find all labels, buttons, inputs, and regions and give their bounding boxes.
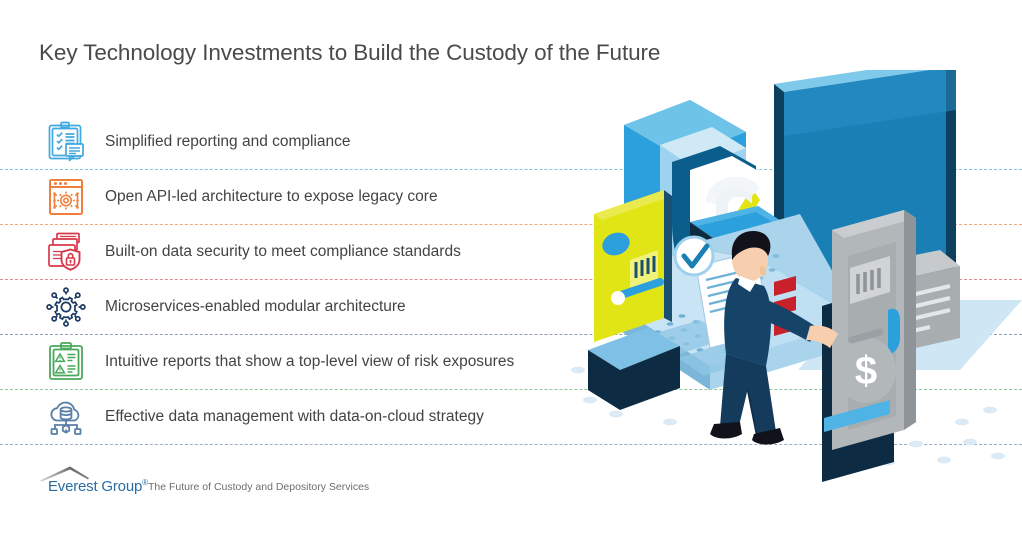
logo-wrap: Everest Group® The Future of Custody and…	[39, 466, 369, 494]
isometric-custody-security-illustration: $	[560, 70, 1022, 490]
page-title: Key Technology Investments to Build the …	[39, 40, 660, 66]
feature-label: Simplified reporting and compliance	[105, 133, 351, 151]
clipboard-checklist-icon	[41, 117, 91, 167]
everest-peak-logo-icon: Everest Group®	[39, 466, 142, 494]
api-browser-gear-icon	[41, 172, 91, 222]
svg-text:$: $	[855, 349, 877, 393]
folder-shield-lock-icon	[41, 227, 91, 277]
id-card	[588, 190, 680, 410]
microservices-gear-nodes-icon	[41, 282, 91, 332]
vault-safe: $	[822, 202, 916, 482]
infographic-page: Key Technology Investments to Build the …	[0, 0, 1022, 535]
report-warning-clipboard-icon	[41, 337, 91, 387]
feature-label: Effective data management with data-on-c…	[105, 408, 484, 426]
footer-tagline: The Future of Custody and Depository Ser…	[148, 481, 369, 494]
cloud-database-network-icon	[41, 392, 91, 442]
feature-label: Built-on data security to meet complianc…	[105, 243, 461, 261]
footer: Everest Group® The Future of Custody and…	[39, 466, 369, 496]
feature-label: Microservices-enabled modular architectu…	[105, 298, 406, 316]
feature-label: Open API-led architecture to expose lega…	[105, 188, 438, 206]
feature-label: Intuitive reports that show a top-level …	[105, 353, 514, 371]
brand-name: Everest Group®	[48, 478, 148, 495]
